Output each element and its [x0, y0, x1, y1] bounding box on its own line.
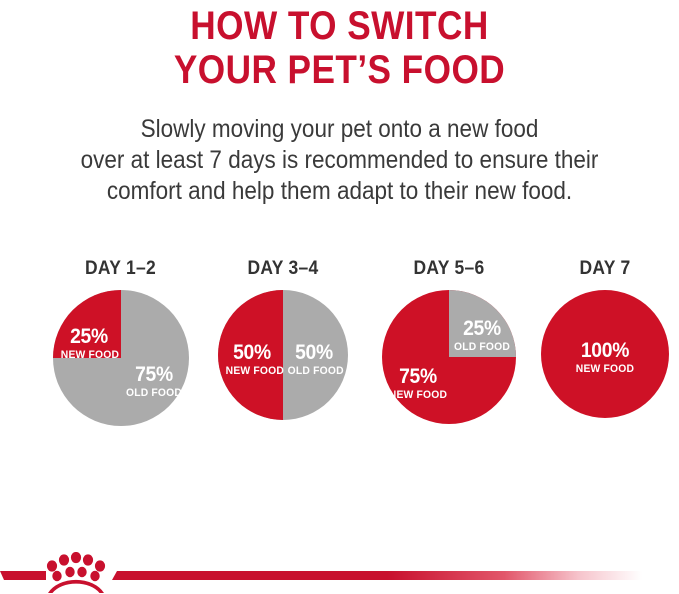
page-title-line-2: YOUR PET’S FOOD [41, 48, 639, 92]
pie-graphic-4: 100% NEW FOOD [541, 290, 669, 418]
pie-chart-row: DAY 1–2 25% NEW FOOD 75% OLD FOOD DAY 3–… [0, 258, 679, 453]
footer-rule-right [112, 571, 642, 580]
pie-graphic-3: 75% NEW FOOD 25% OLD FOOD [382, 290, 516, 424]
day-label-4: DAY 7 [541, 258, 670, 280]
page-title: HOW TO SWITCH YOUR PET’S FOOD [0, 4, 679, 92]
intro-paragraph: Slowly moving your pet onto a new food o… [0, 114, 679, 207]
footer-rule-left [0, 571, 46, 580]
pie-chart-day-5-6: DAY 5–6 75% NEW FOOD 25% OLD FOOD [366, 258, 532, 424]
day-label-2: DAY 3–4 [209, 258, 356, 280]
intro-line-3: comfort and help them adapt to their new… [34, 176, 645, 207]
pie-chart-day-3-4: DAY 3–4 50% NEW FOOD 50% OLD FOOD [203, 258, 363, 420]
pie-graphic-2: 50% NEW FOOD 50% OLD FOOD [218, 290, 348, 420]
intro-line-1: Slowly moving your pet onto a new food [34, 114, 645, 145]
pie-graphic-1: 25% NEW FOOD 75% OLD FOOD [53, 290, 189, 426]
pie-chart-day-7: DAY 7 100% NEW FOOD [535, 258, 675, 418]
page-title-line-1: HOW TO SWITCH [41, 4, 639, 48]
pie-chart-day-1-2: DAY 1–2 25% NEW FOOD 75% OLD FOOD [28, 258, 213, 426]
intro-line-2: over at least 7 days is recommended to e… [34, 145, 645, 176]
crown-icon [45, 552, 107, 594]
day-label-1: DAY 1–2 [35, 258, 205, 280]
day-label-3: DAY 5–6 [373, 258, 526, 280]
